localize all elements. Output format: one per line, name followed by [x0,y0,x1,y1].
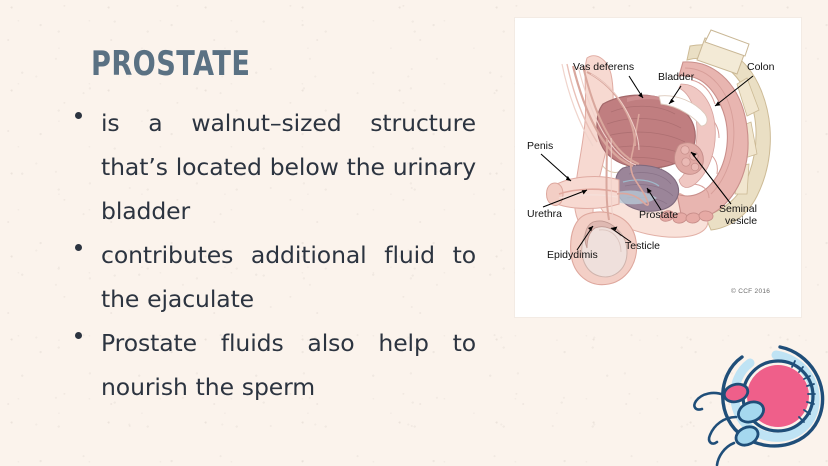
list-item: contributes additional fluid to the ejac… [68,233,476,321]
label-urethra: Urethra [527,208,562,220]
bullet-dot-icon [75,112,82,119]
page-title: PROSTATE [91,44,250,84]
label-bladder: Bladder [658,71,695,83]
copyright-notice: © CCF 2016 [731,287,770,295]
sperm-and-egg-decoration [686,333,828,466]
label-vas-deferens: Vas deferens [573,61,634,73]
bullet-dot-icon [75,244,82,251]
anatomy-diagram-illustration: Vas deferens Bladder Colon Penis Urethra [515,18,801,317]
list-item: is a walnut–sized structure that’s locat… [68,101,476,233]
list-item-text: Prostate fluids also help to nourish the… [101,321,476,409]
label-seminal-vesicle-line2: vesicle [725,215,757,227]
label-colon: Colon [747,61,775,73]
list-item-text: is a walnut–sized structure that’s locat… [101,101,476,233]
label-seminal-vesicle-line1: Seminal [719,203,757,215]
bullet-list: is a walnut–sized structure that’s locat… [68,101,476,409]
anatomy-diagram-panel: Vas deferens Bladder Colon Penis Urethra [515,18,801,317]
list-item: Prostate fluids also help to nourish the… [68,321,476,409]
sperm-and-egg-illustration [686,333,828,466]
sperm-cell-blue-low [717,423,761,465]
bullet-dot-icon [75,332,82,339]
list-item-text: contributes additional fluid to the ejac… [101,233,476,321]
label-epidydimis: Epidydimis [547,249,598,261]
slide-canvas: PROSTATE is a walnut–sized structure tha… [0,0,828,466]
label-penis: Penis [527,140,553,152]
label-prostate: Prostate [639,209,678,221]
